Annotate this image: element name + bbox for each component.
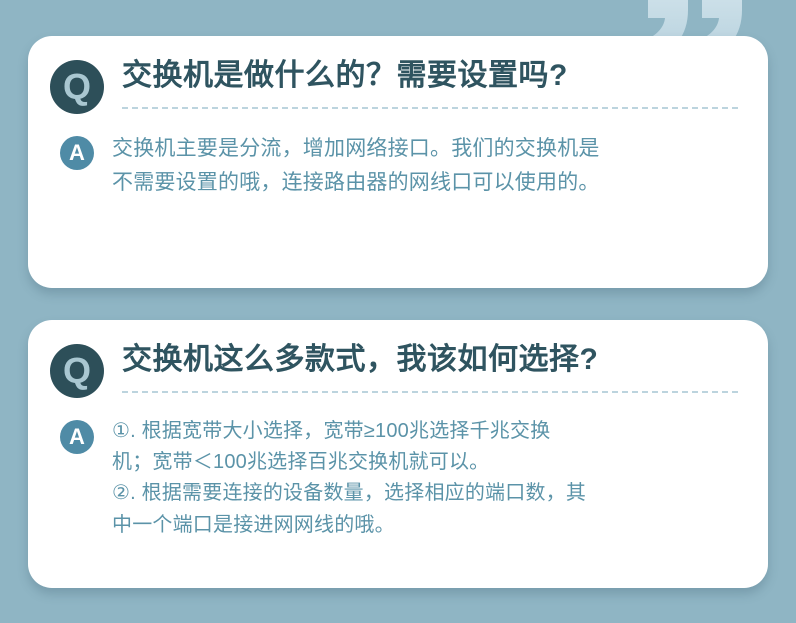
answer-line: ②. 根据需要连接的设备数量，选择相应的端口数，其	[112, 478, 738, 509]
question-row: Q 交换机是做什么的？需要设置吗?	[50, 58, 738, 114]
question-body: 交换机是做什么的？需要设置吗?	[122, 58, 738, 109]
question-badge: Q	[50, 60, 104, 114]
answer-text: ①. 根据宽带大小选择，宽带≥100兆选择千兆交换 机；宽带＜100兆选择百兆交…	[112, 416, 738, 541]
question-title: 交换机这么多款式，我该如何选择?	[122, 342, 738, 377]
faq-card: Q 交换机是做什么的？需要设置吗? A 交换机主要是分流，增加网络接口。我们的交…	[28, 36, 768, 288]
answer-row: A ①. 根据宽带大小选择，宽带≥100兆选择千兆交换 机；宽带＜100兆选择百…	[50, 416, 738, 541]
answer-line: 中一个端口是接进网网线的哦。	[112, 510, 738, 541]
question-row: Q 交换机这么多款式，我该如何选择?	[50, 342, 738, 398]
question-badge: Q	[50, 344, 104, 398]
question-body: 交换机这么多款式，我该如何选择?	[122, 342, 738, 393]
faq-card: Q 交换机这么多款式，我该如何选择? A ①. 根据宽带大小选择，宽带≥100兆…	[28, 320, 768, 588]
card-divider	[122, 107, 738, 109]
answer-badge: A	[60, 136, 94, 170]
answer-text: 交换机主要是分流，增加网络接口。我们的交换机是 不需要设置的哦，连接路由器的网线…	[112, 132, 738, 200]
answer-line: 交换机主要是分流，增加网络接口。我们的交换机是	[112, 132, 738, 166]
card-divider	[122, 391, 738, 393]
answer-line: ①. 根据宽带大小选择，宽带≥100兆选择千兆交换	[112, 416, 738, 447]
answer-line: 不需要设置的哦，连接路由器的网线口可以使用的。	[112, 166, 738, 200]
answer-badge: A	[60, 420, 94, 454]
faq-page: Q 交换机是做什么的？需要设置吗? A 交换机主要是分流，增加网络接口。我们的交…	[0, 0, 796, 623]
question-title: 交换机是做什么的？需要设置吗?	[122, 58, 738, 93]
answer-row: A 交换机主要是分流，增加网络接口。我们的交换机是 不需要设置的哦，连接路由器的…	[50, 132, 738, 200]
answer-line: 机；宽带＜100兆选择百兆交换机就可以。	[112, 447, 738, 478]
